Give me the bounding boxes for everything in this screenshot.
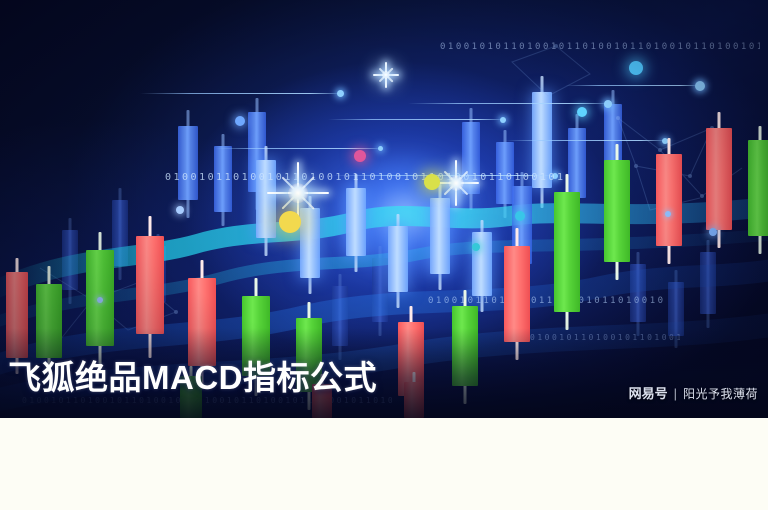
footer-whitespace <box>0 418 768 510</box>
accent-dot <box>472 243 480 251</box>
accent-dot <box>97 297 103 303</box>
accent-dot <box>665 211 671 217</box>
accent-dot <box>354 150 366 162</box>
watermark-separator: | <box>674 386 677 402</box>
accent-dot <box>176 206 184 214</box>
watermark: 网易号 | 阳光予我薄荷 <box>629 386 758 402</box>
watermark-author: 阳光予我薄荷 <box>683 386 758 402</box>
accent-dot <box>629 61 643 75</box>
page-root: 0100101011010010110100101101001011010010… <box>0 0 768 510</box>
accent-dot <box>577 107 587 117</box>
page-title: 飞狐绝品MACD指标公式 <box>8 358 377 398</box>
hero-banner-image: 0100101011010010110100101101001011010010… <box>0 0 768 418</box>
accent-dot <box>515 211 525 221</box>
accent-dot <box>235 116 245 126</box>
accent-dot <box>424 174 440 190</box>
accent-dot <box>709 228 717 236</box>
watermark-logo: 网易号 <box>629 386 668 402</box>
accent-dot-layer <box>0 0 768 418</box>
accent-dot <box>279 211 301 233</box>
